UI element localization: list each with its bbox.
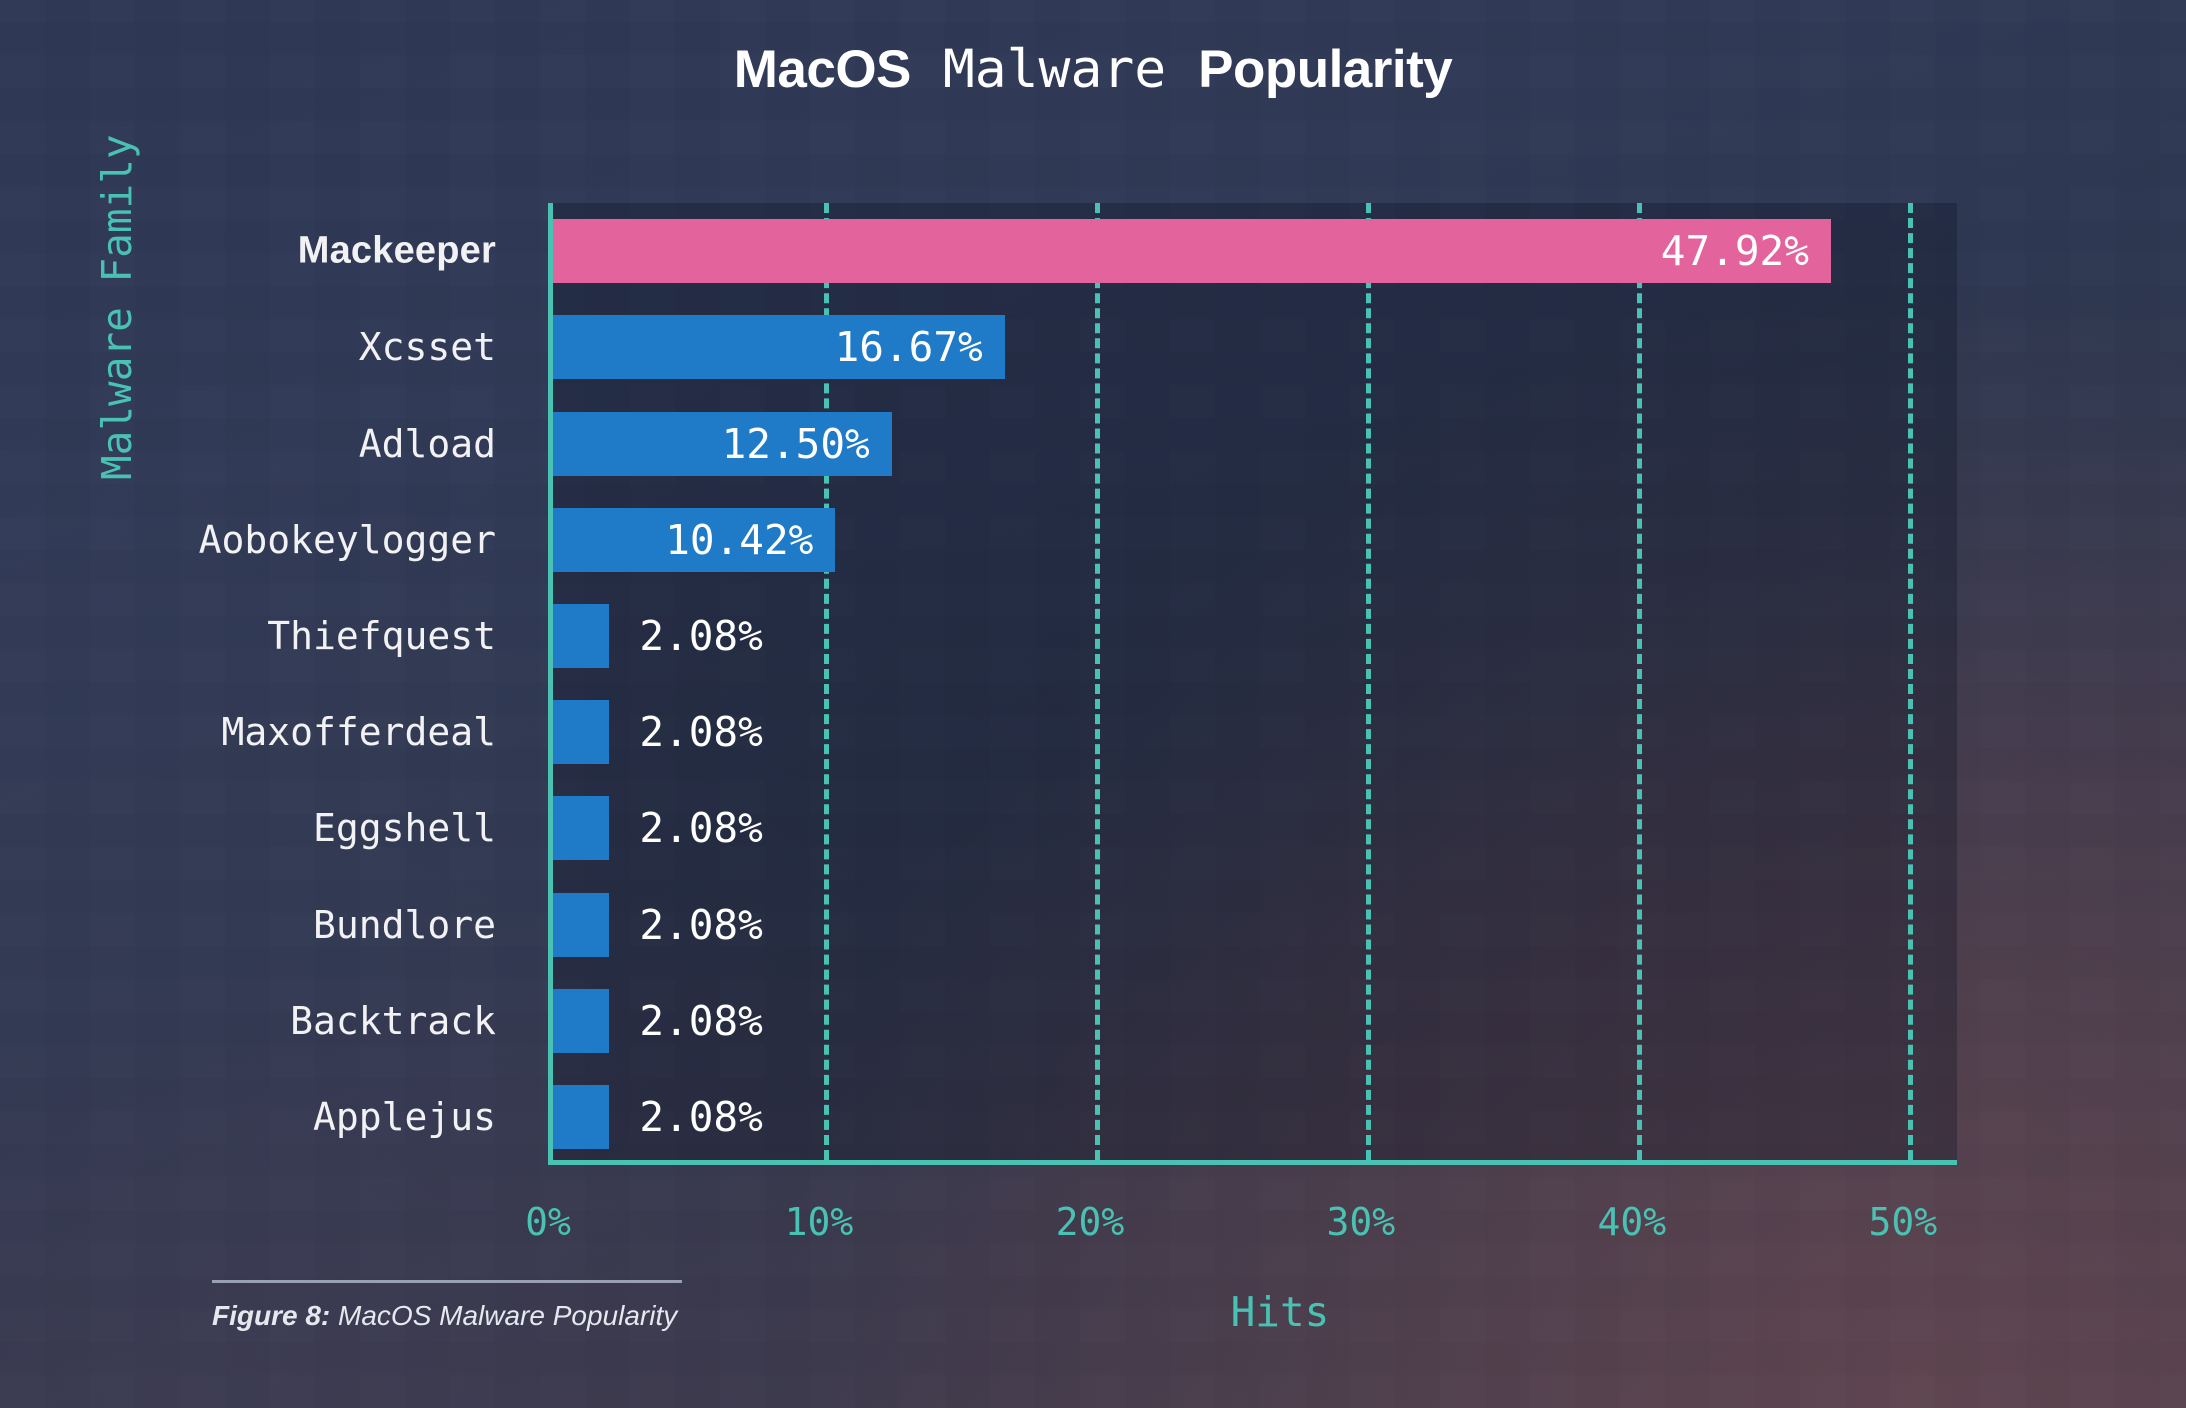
- caption-text: Figure 8: MacOS Malware Popularity: [212, 1300, 682, 1332]
- bar-bundlore[interactable]: [553, 893, 609, 957]
- bar-row[interactable]: 12.50%: [553, 412, 1957, 476]
- bar-value-label: 47.92%: [1661, 227, 1809, 275]
- y-tick-adload: Adload: [359, 422, 496, 466]
- title-segment-2: Popularity: [1198, 40, 1452, 99]
- x-axis-title: Hits: [1080, 1288, 1480, 1336]
- bar-value-label: 16.67%: [835, 323, 983, 371]
- y-axis-tick-labels: MackeeperXcssetAdloadAobokeyloggerThiefq…: [0, 203, 520, 1165]
- title-segment-1: Malware: [911, 39, 1198, 100]
- bar-value-label: 2.08%: [639, 997, 762, 1045]
- y-tick-mackeeper: Mackeeper: [298, 230, 496, 273]
- bar-value-label: 2.08%: [639, 708, 762, 756]
- x-tick-40%: 40%: [1598, 1200, 1667, 1244]
- x-tick-0%: 0%: [525, 1200, 571, 1244]
- bar-mackeeper[interactable]: [553, 219, 1831, 283]
- x-axis-tick-labels: 0%10%20%30%40%50%: [548, 1200, 1957, 1260]
- y-tick-aobokeylogger: Aobokeylogger: [199, 518, 496, 562]
- bar-row[interactable]: 16.67%: [553, 315, 1957, 379]
- bar-row[interactable]: 2.08%: [553, 989, 1957, 1053]
- bar-value-label: 2.08%: [639, 804, 762, 852]
- bar-row[interactable]: 10.42%: [553, 508, 1957, 572]
- page-title: MacOS Malware Popularity: [0, 38, 2186, 102]
- x-tick-20%: 20%: [1056, 1200, 1125, 1244]
- bar-maxofferdeal[interactable]: [553, 700, 609, 764]
- bar-applejus[interactable]: [553, 1085, 609, 1149]
- x-tick-10%: 10%: [785, 1200, 854, 1244]
- caption-body: MacOS Malware Popularity: [330, 1300, 677, 1331]
- x-tick-30%: 30%: [1327, 1200, 1396, 1244]
- bar-row[interactable]: 47.92%: [553, 219, 1957, 283]
- bar-value-label: 10.42%: [665, 516, 813, 564]
- x-tick-50%: 50%: [1868, 1200, 1937, 1244]
- y-tick-eggshell: Eggshell: [313, 806, 496, 850]
- caption-divider: [212, 1280, 682, 1283]
- bar-backtrack[interactable]: [553, 989, 609, 1053]
- y-tick-bundlore: Bundlore: [313, 903, 496, 947]
- bar-value-label: 2.08%: [639, 612, 762, 660]
- title-segment-0: MacOS: [734, 40, 911, 99]
- y-tick-thiefquest: Thiefquest: [267, 614, 496, 658]
- bar-value-label: 2.08%: [639, 901, 762, 949]
- plot-area: 47.92%16.67%12.50%10.42%2.08%2.08%2.08%2…: [548, 203, 1957, 1165]
- y-tick-applejus: Applejus: [313, 1095, 496, 1139]
- y-tick-backtrack: Backtrack: [290, 999, 496, 1043]
- bar-row[interactable]: 2.08%: [553, 893, 1957, 957]
- bar-row[interactable]: 2.08%: [553, 604, 1957, 668]
- bar-thiefquest[interactable]: [553, 604, 609, 668]
- bar-row[interactable]: 2.08%: [553, 700, 1957, 764]
- figure-caption: Figure 8: MacOS Malware Popularity: [212, 1280, 682, 1332]
- y-tick-xcsset: Xcsset: [359, 325, 496, 369]
- caption-label: Figure 8:: [212, 1300, 330, 1331]
- y-tick-maxofferdeal: Maxofferdeal: [221, 710, 496, 754]
- bar-eggshell[interactable]: [553, 796, 609, 860]
- bar-series: 47.92%16.67%12.50%10.42%2.08%2.08%2.08%2…: [553, 203, 1957, 1160]
- chart-canvas: MacOS Malware Popularity Malware Family …: [0, 0, 2186, 1408]
- bar-row[interactable]: 2.08%: [553, 1085, 1957, 1149]
- bar-row[interactable]: 2.08%: [553, 796, 1957, 860]
- bar-value-label: 2.08%: [639, 1093, 762, 1141]
- bar-value-label: 12.50%: [722, 420, 870, 468]
